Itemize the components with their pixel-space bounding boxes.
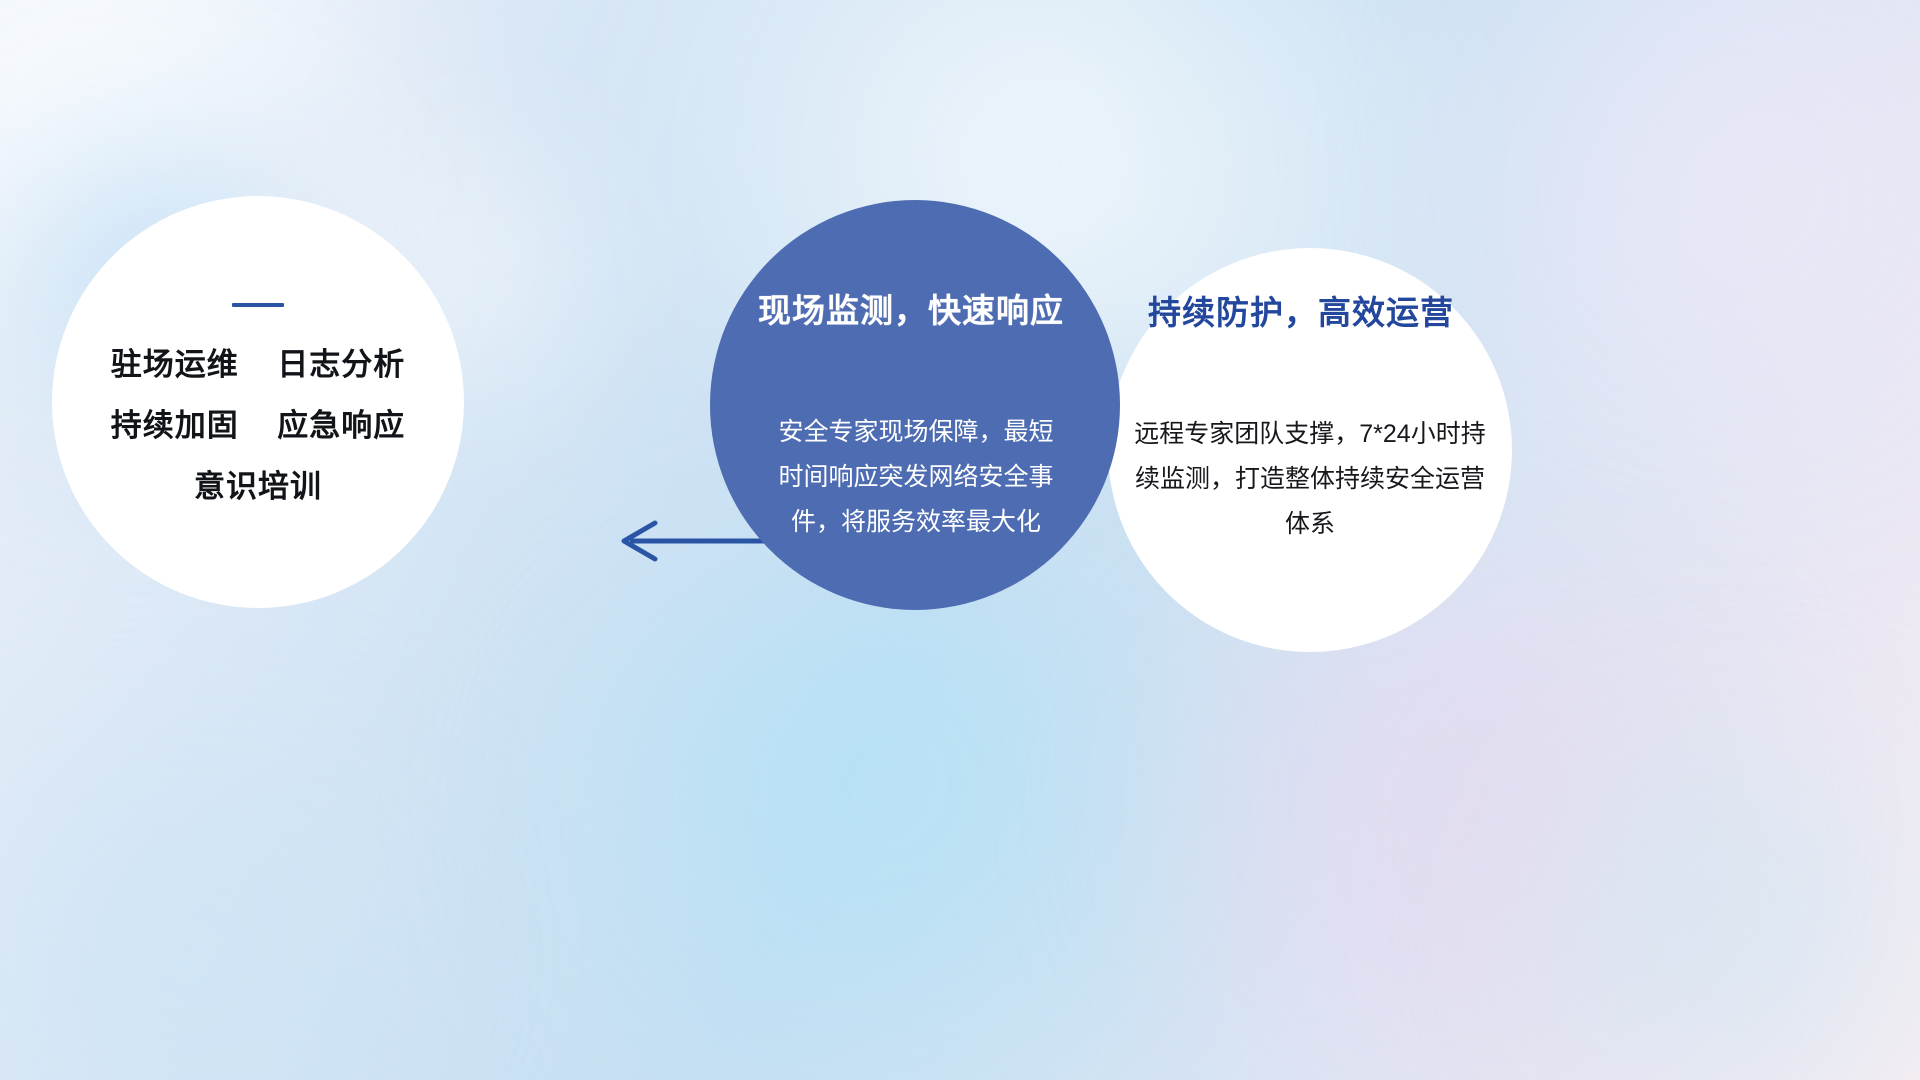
left-circle-line-1: 驻场运维 日志分析 (111, 349, 405, 380)
middle-circle-title: 现场监测，快速响应 (758, 294, 1064, 327)
right-circle-title: 持续防护，高效运营 (1148, 296, 1454, 329)
middle-monitoring-circle[interactable] (710, 200, 1120, 610)
left-capability-circle[interactable]: 驻场运维 日志分析 持续加固 应急响应 意识培训 (52, 196, 464, 608)
middle-circle-body: 安全专家现场保障，最短时间响应突发网络安全事件，将服务效率最大化 (770, 410, 1062, 545)
divider-dash (232, 303, 284, 307)
left-circle-line-3: 意识培训 (194, 471, 322, 502)
left-circle-line-2: 持续加固 应急响应 (111, 410, 405, 441)
right-circle-body: 远程专家团队支撑，7*24小时持续监测，打造整体持续安全运营体系 (1132, 412, 1488, 547)
slide-canvas: 驻场运维 日志分析 持续加固 应急响应 意识培训 现场监测，快速响应 安全专家现… (0, 0, 1920, 1080)
